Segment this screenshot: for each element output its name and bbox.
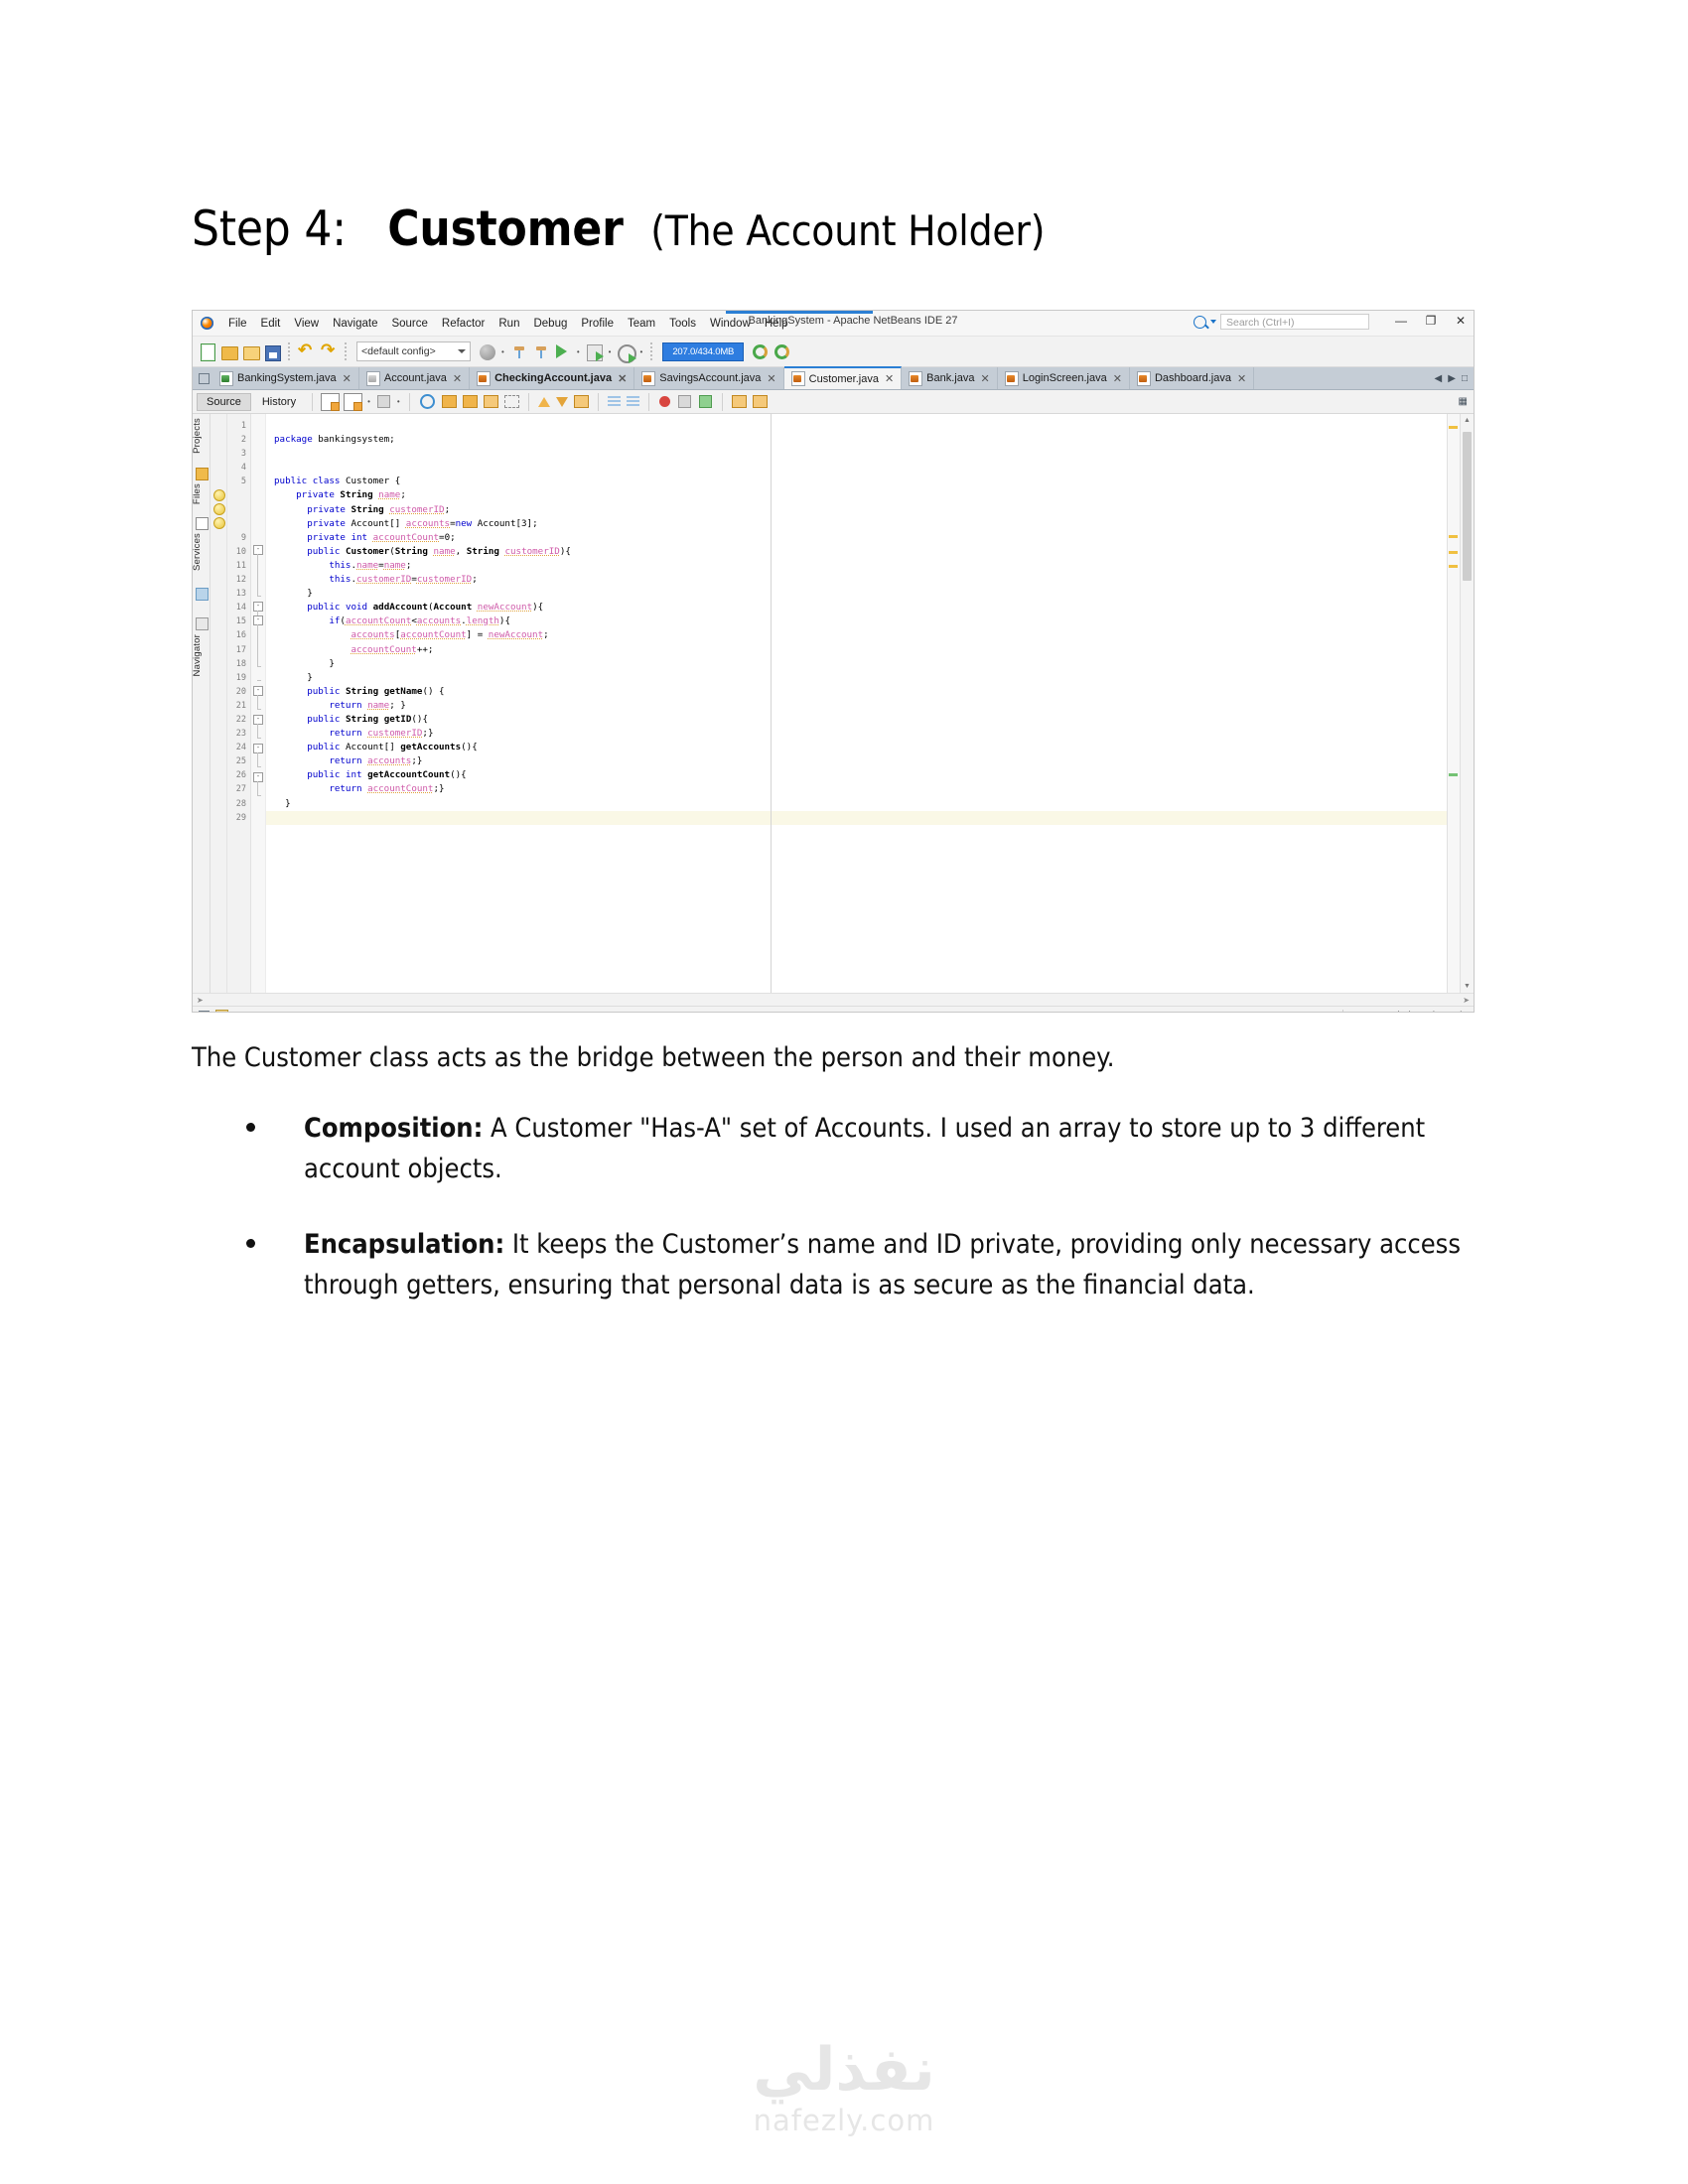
shift-line-icon[interactable] bbox=[377, 395, 390, 408]
editor-body: Projects Files Services Navigator 123456… bbox=[193, 414, 1474, 993]
code-line[interactable]: private int accountCount=0; bbox=[266, 531, 1447, 545]
menu-item-tools[interactable]: Tools bbox=[662, 315, 703, 333]
java-file-icon bbox=[909, 371, 922, 386]
editor-toolbar[interactable]: Source History • • bbox=[193, 390, 1474, 414]
inspect-icon[interactable] bbox=[574, 395, 589, 408]
tab-bank-java[interactable]: Bank.java ✕ bbox=[902, 367, 998, 389]
main-toolbar[interactable]: ↶ ↷ <default config> • • • • 207.0/434.0… bbox=[193, 337, 1474, 367]
fold-toggle-icon[interactable]: - bbox=[253, 744, 263, 753]
heading-subtitle: (The Account Holder) bbox=[650, 206, 1045, 255]
list-item: Composition: A Customer "Has-A" set of A… bbox=[246, 1109, 1468, 1189]
code-fold-gutter[interactable]: - - - - - - - bbox=[251, 414, 266, 993]
projects-icon bbox=[196, 468, 209, 480]
fold-toggle-icon[interactable]: - bbox=[253, 545, 263, 555]
code-line[interactable]: return accounts;} bbox=[266, 754, 1447, 768]
java-file-icon bbox=[1137, 371, 1151, 386]
toggle-rectangular-selection-icon[interactable] bbox=[504, 395, 519, 408]
code-line[interactable]: public void addAccount(Account newAccoun… bbox=[266, 601, 1447, 614]
left-dock-tabs[interactable]: Projects Files Services Navigator bbox=[193, 414, 211, 993]
maximize-button[interactable]: ❐ bbox=[1424, 314, 1438, 328]
dot-separator-3: • bbox=[367, 397, 370, 406]
editor-toolbar-right[interactable]: ▦ bbox=[1459, 396, 1474, 407]
stop-icon[interactable] bbox=[678, 395, 691, 408]
ide-title-bar: File Edit View Navigate Source Refactor … bbox=[193, 311, 1474, 337]
caret-position: 29:1 bbox=[1310, 1011, 1329, 1014]
minimize-button[interactable]: — bbox=[1394, 314, 1408, 328]
code-line[interactable]: private String name; bbox=[266, 488, 1447, 502]
editor-vertical-scrollbar[interactable]: ▲ ▼ bbox=[1460, 414, 1474, 993]
line-number-gutter: 1234567891011121314151617181920212223242… bbox=[227, 414, 251, 993]
warning-mark[interactable] bbox=[1449, 426, 1458, 429]
profile-project-icon[interactable] bbox=[616, 342, 634, 361]
menu-item-edit[interactable]: Edit bbox=[254, 315, 288, 333]
close-icon[interactable]: ✕ bbox=[1237, 372, 1246, 385]
history-view-button[interactable]: History bbox=[253, 394, 305, 410]
fold-toggle-icon[interactable]: - bbox=[253, 686, 263, 696]
code-line[interactable]: } bbox=[266, 587, 1447, 601]
close-icon[interactable]: ✕ bbox=[343, 372, 352, 385]
scroll-left-icon[interactable]: ➤ bbox=[197, 996, 204, 1005]
close-icon[interactable]: ✕ bbox=[885, 372, 894, 385]
code-line[interactable]: if(accountCount<accounts.length){ bbox=[266, 614, 1447, 628]
garbage-collect-icon[interactable] bbox=[751, 342, 770, 361]
code-line[interactable]: this.name=name; bbox=[266, 559, 1447, 573]
open-project-icon[interactable] bbox=[241, 342, 260, 361]
tab-savingsaccount-java[interactable]: SavingsAccount.java ✕ bbox=[634, 367, 783, 389]
comment-icon[interactable] bbox=[732, 395, 747, 408]
tab-label: Customer.java bbox=[809, 373, 879, 385]
tab-label: Bank.java bbox=[926, 372, 974, 384]
code-line[interactable] bbox=[266, 447, 1447, 461]
java-file-icon bbox=[366, 371, 380, 386]
scroll-down-icon[interactable]: ▼ bbox=[1464, 983, 1471, 990]
chevron-down-icon[interactable] bbox=[1210, 320, 1216, 324]
tab-strip-controls[interactable]: ◀ ▶ □ bbox=[1435, 367, 1474, 389]
shift-right-icon[interactable] bbox=[627, 396, 639, 407]
code-line[interactable]: return customerID;} bbox=[266, 727, 1447, 741]
toolbar-drag-handle[interactable] bbox=[288, 342, 290, 360]
maximize-editor-icon[interactable]: □ bbox=[1462, 373, 1468, 384]
code-line[interactable]: public Account[] getAccounts(){ bbox=[266, 741, 1447, 754]
fold-toggle-icon[interactable]: - bbox=[253, 715, 263, 725]
menu-item-run[interactable]: Run bbox=[492, 315, 526, 333]
scroll-right-icon[interactable]: ▶ bbox=[1448, 373, 1456, 384]
editor-horizontal-scrollbar[interactable]: ➤ ➤ bbox=[193, 993, 1474, 1006]
netbeans-logo-icon bbox=[201, 317, 213, 330]
tab-loginscreen-java[interactable]: LoginScreen.java ✕ bbox=[998, 367, 1130, 389]
java-file-icon bbox=[477, 371, 491, 386]
tab-label: SavingsAccount.java bbox=[659, 372, 761, 384]
tab-customer-java[interactable]: Customer.java ✕ bbox=[784, 366, 903, 389]
output-window-label[interactable]: Output bbox=[234, 1011, 264, 1014]
bullet-list: Composition: A Customer "Has-A" set of A… bbox=[246, 1109, 1468, 1341]
tab-dashboard-java[interactable]: Dashboard.java ✕ bbox=[1130, 367, 1254, 389]
close-button[interactable]: ✕ bbox=[1454, 314, 1468, 328]
code-line[interactable]: accountCount++; bbox=[266, 643, 1447, 657]
footer-watermark: نفذلي nafezly.com bbox=[0, 2040, 1688, 2137]
code-line[interactable]: package bankingsystem; bbox=[266, 433, 1447, 447]
scroll-left-icon[interactable]: ◀ bbox=[1435, 373, 1443, 384]
status-bar-right: 29:1 INS Windows (CRLF) bbox=[1310, 1010, 1468, 1013]
close-icon[interactable]: ✕ bbox=[1113, 372, 1122, 385]
code-line[interactable] bbox=[266, 419, 1447, 433]
navigator-icon bbox=[196, 617, 209, 630]
menu-item-source[interactable]: Source bbox=[384, 315, 434, 333]
previous-bookmark-icon[interactable] bbox=[442, 395, 457, 408]
hint-bulb-icon[interactable] bbox=[213, 503, 225, 515]
code-line[interactable]: } bbox=[266, 671, 1447, 685]
bullet-term: Composition: bbox=[304, 1113, 483, 1144]
error-stripe[interactable] bbox=[1447, 414, 1460, 993]
menu-item-team[interactable]: Team bbox=[621, 315, 662, 333]
next-bookmark-icon[interactable] bbox=[463, 395, 478, 408]
toolbar-separator bbox=[312, 393, 313, 411]
fold-toggle-icon[interactable]: - bbox=[253, 615, 263, 625]
back-to-source-icon[interactable] bbox=[344, 393, 362, 411]
code-line[interactable]: private Account[] accounts=new Account[3… bbox=[266, 517, 1447, 531]
tab-label: BankingSystem.java bbox=[237, 372, 337, 384]
services-icon bbox=[196, 588, 209, 601]
toggle-bookmark-icon[interactable] bbox=[484, 395, 498, 408]
document-page: Step 4: Customer (The Account Holder) Fi… bbox=[0, 0, 1688, 2184]
tab-list-icon[interactable] bbox=[195, 367, 212, 389]
editor-tab-strip[interactable]: BankingSystem.java ✕ Account.java ✕ Chec… bbox=[193, 367, 1474, 390]
tab-label: LoginScreen.java bbox=[1023, 372, 1107, 384]
search-input[interactable]: Search (Ctrl+I) bbox=[1220, 314, 1369, 330]
output-window-icon[interactable] bbox=[215, 1010, 228, 1014]
menu-item-debug[interactable]: Debug bbox=[526, 315, 574, 333]
menu-item-refactor[interactable]: Refactor bbox=[435, 315, 492, 333]
debug-project-icon[interactable] bbox=[585, 342, 604, 361]
fold-toggle-icon[interactable]: - bbox=[253, 772, 263, 782]
save-all-icon[interactable] bbox=[263, 342, 282, 361]
config-select-value: <default config> bbox=[361, 345, 436, 357]
memory-meter[interactable]: 207.0/434.0MB bbox=[662, 342, 744, 361]
close-icon[interactable]: ✕ bbox=[618, 372, 627, 385]
occurrence-mark[interactable] bbox=[1449, 773, 1458, 776]
fold-toggle-icon[interactable]: - bbox=[253, 602, 263, 612]
sidebar-item-projects[interactable]: Projects bbox=[192, 418, 209, 454]
list-item: Encapsulation: It keeps the Customer’s n… bbox=[246, 1225, 1468, 1305]
code-line[interactable]: return accountCount;} bbox=[266, 782, 1447, 796]
java-file-icon bbox=[641, 371, 655, 386]
tab-account-java[interactable]: Account.java ✕ bbox=[359, 367, 470, 389]
toolbar-separator-2 bbox=[409, 393, 410, 411]
menu-item-navigate[interactable]: Navigate bbox=[326, 315, 384, 333]
hint-bulb-icon[interactable] bbox=[213, 489, 225, 501]
sidebar-item-files[interactable]: Files bbox=[192, 483, 209, 504]
new-project-icon[interactable] bbox=[219, 342, 238, 361]
close-icon[interactable]: ✕ bbox=[980, 372, 989, 385]
scroll-right-icon[interactable]: ➤ bbox=[1463, 996, 1470, 1005]
hint-bulb-icon[interactable] bbox=[213, 517, 225, 529]
previous-error-icon[interactable] bbox=[538, 397, 550, 407]
line-endings[interactable]: Windows (CRLF) bbox=[1388, 1011, 1464, 1014]
editor-options-icon[interactable]: ▦ bbox=[1459, 396, 1468, 407]
code-line[interactable]: public Customer(String name, String cust… bbox=[266, 545, 1447, 559]
globe-icon[interactable] bbox=[478, 342, 496, 361]
heading-step: Step 4: bbox=[192, 201, 347, 257]
undo-icon[interactable]: ↶ bbox=[298, 343, 314, 359]
warning-mark[interactable] bbox=[1449, 551, 1458, 554]
search-area[interactable]: Search (Ctrl+I) bbox=[1194, 314, 1369, 330]
uncomment-icon[interactable] bbox=[753, 395, 768, 408]
code-line[interactable]: } bbox=[266, 797, 1447, 811]
code-line[interactable]: public class Customer { bbox=[266, 475, 1447, 488]
run-project-icon[interactable] bbox=[553, 342, 572, 361]
netbeans-ide-screenshot: File Edit View Navigate Source Refactor … bbox=[192, 310, 1475, 1013]
watermark-latin: nafezly.com bbox=[0, 2104, 1688, 2137]
code-editor-text[interactable]: package bankingsystem; public class Cust… bbox=[266, 414, 1447, 993]
tab-label: Account.java bbox=[384, 372, 447, 384]
heading-classname: Customer bbox=[387, 201, 623, 257]
close-icon[interactable]: ✕ bbox=[767, 372, 775, 385]
menu-item-profile[interactable]: Profile bbox=[574, 315, 621, 333]
chevron-down-icon bbox=[458, 349, 466, 353]
close-icon[interactable]: ✕ bbox=[453, 372, 462, 385]
redo-icon[interactable]: ↷ bbox=[321, 343, 337, 359]
bullet-dot-icon bbox=[246, 1239, 255, 1248]
source-view-button[interactable]: Source bbox=[197, 393, 251, 411]
menu-bar[interactable]: File Edit View Navigate Source Refactor … bbox=[221, 315, 795, 333]
sidebar-item-navigator[interactable]: Navigator bbox=[192, 634, 209, 676]
dot-separator-2: • bbox=[577, 347, 580, 356]
warning-mark[interactable] bbox=[1449, 535, 1458, 538]
java-file-icon bbox=[219, 371, 233, 386]
tab-bankingsystem-java[interactable]: BankingSystem.java ✕ bbox=[212, 367, 359, 389]
glyph-gutter[interactable] bbox=[211, 414, 227, 993]
chevron-down-icon-debug[interactable]: • bbox=[609, 347, 612, 356]
run-file-icon[interactable] bbox=[699, 395, 712, 408]
build-project-icon[interactable] bbox=[509, 342, 528, 361]
menu-item-window[interactable]: Window bbox=[703, 315, 758, 333]
code-line[interactable]: public String getID(){ bbox=[266, 713, 1447, 727]
scrollbar-thumb[interactable] bbox=[1463, 432, 1472, 581]
window-controls[interactable]: — ❐ ✕ bbox=[1394, 314, 1468, 328]
toolbar-separator-4 bbox=[598, 393, 599, 411]
toolbar-drag-handle-2[interactable] bbox=[345, 342, 347, 360]
bullet-term: Encapsulation: bbox=[304, 1229, 504, 1260]
bullet-dot-icon bbox=[246, 1123, 255, 1132]
toolbar-drag-handle-3[interactable] bbox=[650, 342, 652, 360]
scroll-up-icon[interactable]: ▲ bbox=[1464, 417, 1471, 424]
tab-label: Dashboard.java bbox=[1155, 372, 1231, 384]
menu-item-file[interactable]: File bbox=[221, 315, 254, 333]
next-error-icon[interactable] bbox=[556, 397, 568, 407]
code-line[interactable]: public String getName() { bbox=[266, 685, 1447, 699]
search-icon bbox=[1194, 316, 1206, 329]
config-select[interactable]: <default config> bbox=[356, 341, 471, 361]
dot-separator-4: • bbox=[397, 397, 400, 406]
menu-item-help[interactable]: Help bbox=[758, 315, 795, 333]
code-line[interactable]: accounts[accountCount] = newAccount; bbox=[266, 628, 1447, 642]
java-file-icon bbox=[791, 371, 805, 386]
ide-status-bar: Output 29:1 INS Windows (CRLF) bbox=[193, 1006, 1474, 1013]
page-title: Step 4: Customer (The Account Holder) bbox=[192, 204, 1482, 254]
garbage-collect-icon-2[interactable] bbox=[773, 342, 791, 361]
warning-mark[interactable] bbox=[1449, 565, 1458, 568]
code-line[interactable] bbox=[266, 461, 1447, 475]
menu-item-view[interactable]: View bbox=[287, 315, 326, 333]
toggle-breakpoint-icon[interactable] bbox=[659, 396, 670, 407]
toolbar-separator-6 bbox=[722, 393, 723, 411]
toolbar-separator-3 bbox=[528, 393, 529, 411]
clean-and-build-icon[interactable] bbox=[531, 342, 550, 361]
find-selection-icon[interactable] bbox=[420, 394, 435, 409]
dot-separator: • bbox=[501, 347, 504, 356]
shift-left-icon[interactable] bbox=[608, 396, 621, 407]
tab-checkingaccount-java[interactable]: CheckingAccount.java ✕ bbox=[470, 367, 634, 389]
java-file-icon bbox=[1005, 371, 1019, 386]
code-line[interactable]: private String customerID; bbox=[266, 503, 1447, 517]
watermark-arabic: نفذلي bbox=[0, 2040, 1688, 2100]
active-tab-accent bbox=[726, 311, 873, 314]
tab-label: CheckingAccount.java bbox=[494, 372, 612, 384]
code-line[interactable]: public int getAccountCount(){ bbox=[266, 768, 1447, 782]
right-margin-line bbox=[771, 414, 772, 993]
toolbar-separator-5 bbox=[648, 393, 649, 411]
code-line[interactable]: } bbox=[266, 657, 1447, 671]
code-line[interactable]: this.customerID=customerID; bbox=[266, 573, 1447, 587]
last-edit-icon[interactable] bbox=[321, 393, 340, 411]
code-line[interactable]: return name; } bbox=[266, 699, 1447, 713]
chevron-down-icon-profile[interactable]: • bbox=[639, 347, 642, 356]
files-icon bbox=[196, 517, 209, 530]
sidebar-item-services[interactable]: Services bbox=[192, 533, 209, 571]
minimize-window-icon[interactable] bbox=[199, 1011, 210, 1014]
lead-paragraph: The Customer class acts as the bridge be… bbox=[192, 1038, 1443, 1077]
code-line[interactable] bbox=[266, 811, 1447, 825]
new-file-icon[interactable] bbox=[198, 342, 216, 361]
insert-mode[interactable]: INS bbox=[1357, 1011, 1374, 1014]
